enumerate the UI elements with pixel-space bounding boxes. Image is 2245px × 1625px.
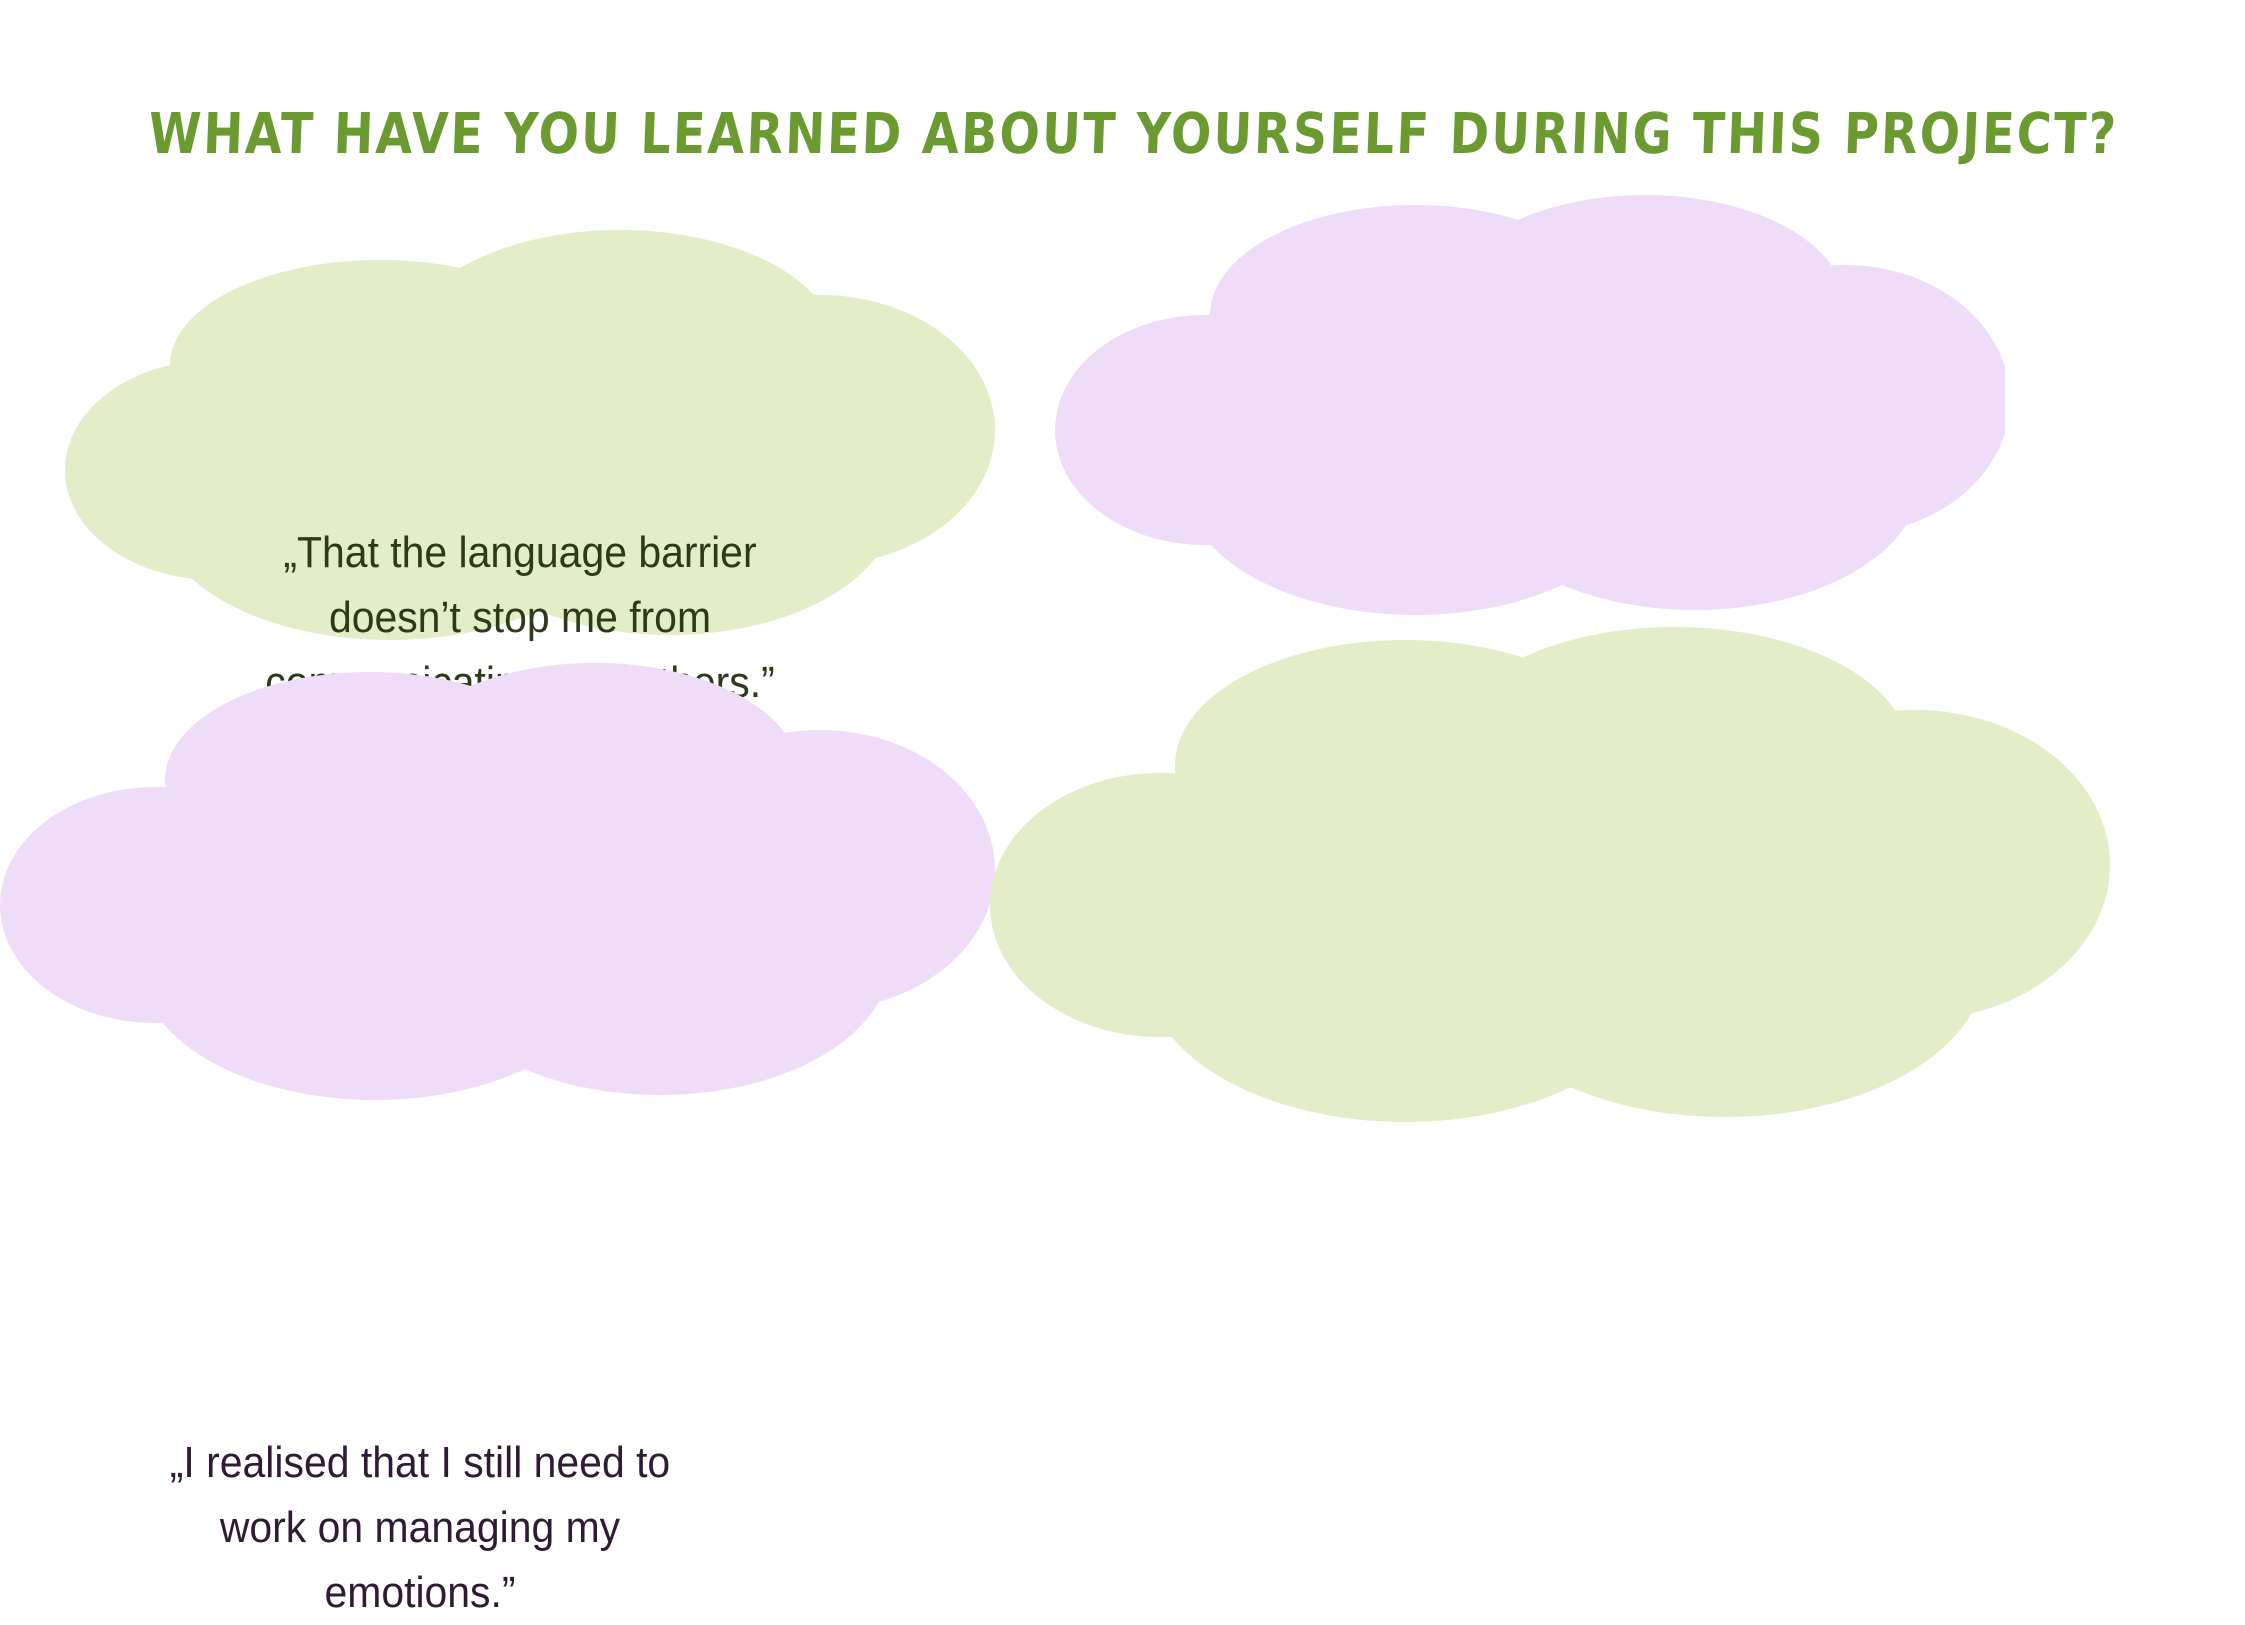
quote-cloud-top-left: „That the language barrier doesn’t stop … (60, 215, 995, 650)
quote-cloud-top-right: „Thanks to this project, I’ve realised w… (1055, 185, 2005, 625)
quote-text-bottom-right: „It has been confirmed that I am perform… (2192, 1365, 2245, 1625)
quote-cloud-bottom-left: „I realised that I still need to work on… (0, 655, 1000, 1110)
cloud-shape-icon (0, 655, 1000, 1110)
cloud-shape-icon (985, 620, 2125, 1135)
quote-cloud-bottom-right: „It has been confirmed that I am perform… (985, 620, 2125, 1135)
quote-text-bottom-left: „I realised that I still need to work on… (132, 1430, 709, 1625)
page-title: What have you learned about yourself dur… (0, 107, 2245, 163)
cloud-shape-icon (1055, 185, 2005, 625)
slide-canvas: What have you learned about yourself dur… (0, 0, 2245, 1220)
